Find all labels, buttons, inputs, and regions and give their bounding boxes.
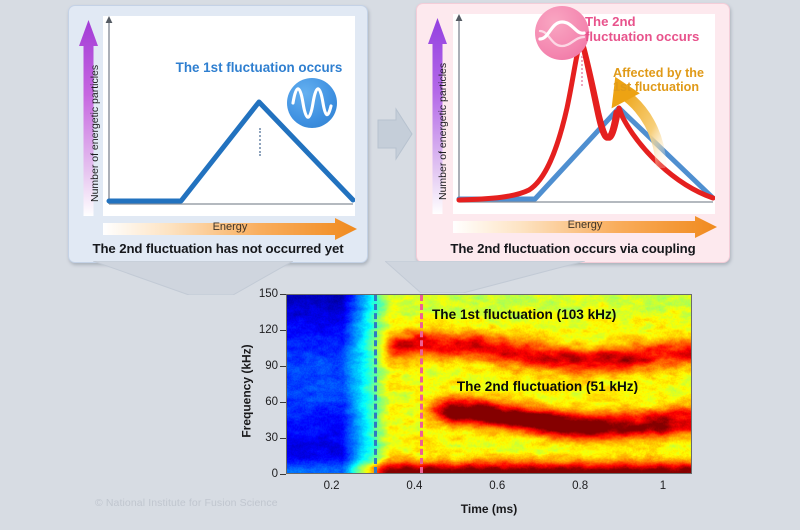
- spectrogram-y-label: Frequency (kHz): [240, 344, 254, 437]
- figure-root: Number of energetic particles The 1st fl…: [0, 0, 800, 530]
- panel-before-annotation: The 1st fluctuation occurs: [159, 60, 359, 75]
- first-fluctuation-marker: [374, 295, 377, 473]
- y-tick-label: 90: [216, 360, 278, 372]
- y-tick-label: 0: [216, 468, 278, 480]
- y-tick-label: 60: [216, 396, 278, 408]
- spectrogram: Frequency (kHz) Time (ms) 0306090120150 …: [178, 286, 718, 530]
- panel-after-caption: The 2nd fluctuation occurs via coupling: [417, 241, 729, 256]
- x-tick-label: 0.2: [312, 480, 352, 492]
- y-tick-mark: [280, 474, 286, 475]
- spectrogram-x-label: Time (ms): [286, 502, 692, 516]
- panel-after: Number of energetic particles The 2nd fl…: [416, 3, 730, 263]
- panel-before-x-label: Energy: [103, 221, 357, 233]
- panel-before-y-label: Number of energetic particles: [89, 65, 101, 202]
- second-fluctuation-marker: [420, 295, 423, 473]
- x-tick-label: 0.8: [560, 480, 600, 492]
- x-tick-label: 0.4: [394, 480, 434, 492]
- y-tick-label: 30: [216, 432, 278, 444]
- panel-before: Number of energetic particles The 1st fl…: [68, 5, 368, 263]
- panel-after-annotation2: Affected by the 1st fluctuation: [613, 66, 731, 95]
- copyright-notice: © National Institute for Fusion Science: [95, 497, 278, 509]
- panel-before-caption: The 2nd fluctuation has not occurred yet: [69, 241, 367, 256]
- blue-wave-circle-icon: [287, 78, 337, 128]
- after-drop-line: [581, 56, 583, 86]
- spectrogram-note: The 2nd fluctuation (51 kHz): [457, 379, 638, 394]
- panel-after-y-label: Number of energetic particles: [437, 63, 449, 200]
- pink-wave-circle-icon: [535, 6, 589, 60]
- transition-right-arrow-icon: [376, 104, 414, 164]
- before-drop-line: [259, 128, 261, 156]
- spectrogram-plot-area: The 1st fluctuation (103 kHz)The 2nd flu…: [286, 294, 692, 474]
- panel-after-annotation: The 2nd fluctuation occurs: [585, 14, 710, 44]
- spectrogram-note: The 1st fluctuation (103 kHz): [432, 307, 616, 322]
- panel-after-x-label: Energy: [453, 219, 717, 231]
- y-tick-label: 120: [216, 324, 278, 336]
- y-tick-label: 150: [216, 288, 278, 300]
- x-tick-label: 0.6: [477, 480, 517, 492]
- x-tick-label: 1: [643, 480, 683, 492]
